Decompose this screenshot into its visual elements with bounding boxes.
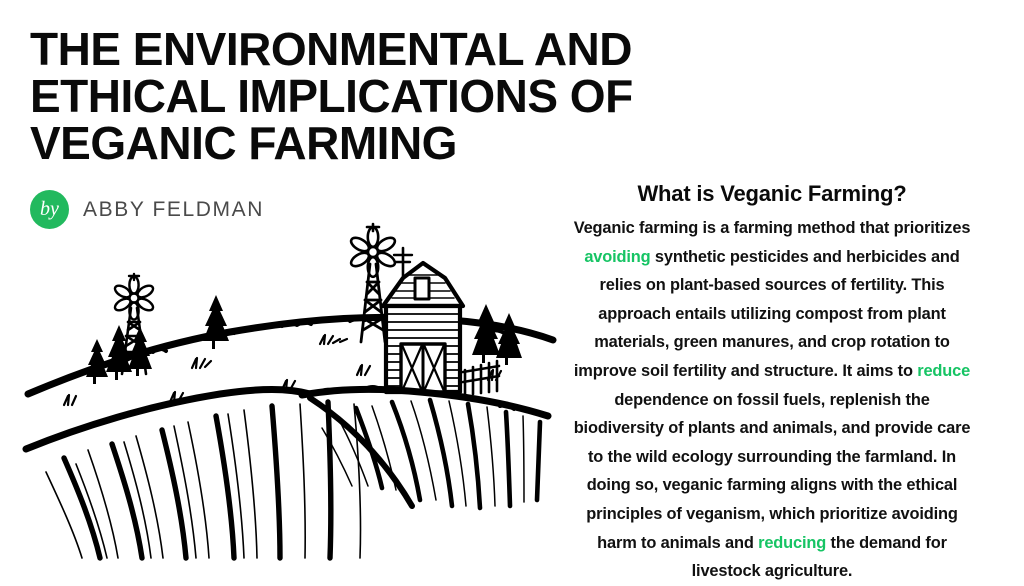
article-column: What is Veganic Farming? Veganic farming… bbox=[572, 180, 972, 586]
title-line-3: VEGANIC FARMING bbox=[30, 120, 720, 167]
poster-page: THE ENVIRONMENTAL AND ETHICAL IMPLICATIO… bbox=[0, 0, 1024, 576]
body-text-run-4: dependence on fossil fuels, replenish th… bbox=[574, 391, 971, 552]
highlighted-term-5: reducing bbox=[758, 534, 826, 552]
highlighted-term-1: avoiding bbox=[584, 248, 650, 266]
body-text-run-0: Veganic farming is a farming method that… bbox=[574, 219, 971, 237]
body-text-run-2: synthetic pesticides and herbicides and … bbox=[574, 248, 960, 380]
page-title: THE ENVIRONMENTAL AND ETHICAL IMPLICATIO… bbox=[30, 26, 720, 167]
author-name: ABBY FELDMAN bbox=[83, 198, 264, 222]
by-badge-label: by bbox=[40, 199, 59, 219]
title-line-1: THE ENVIRONMENTAL AND bbox=[30, 26, 720, 73]
article-body: Veganic farming is a farming method that… bbox=[572, 214, 972, 586]
section-heading: What is Veganic Farming? bbox=[572, 180, 972, 207]
highlighted-term-3: reduce bbox=[917, 362, 970, 380]
farm-landscape-illustration bbox=[20, 222, 560, 562]
title-line-2: ETHICAL IMPLICATIONS OF bbox=[30, 73, 720, 120]
